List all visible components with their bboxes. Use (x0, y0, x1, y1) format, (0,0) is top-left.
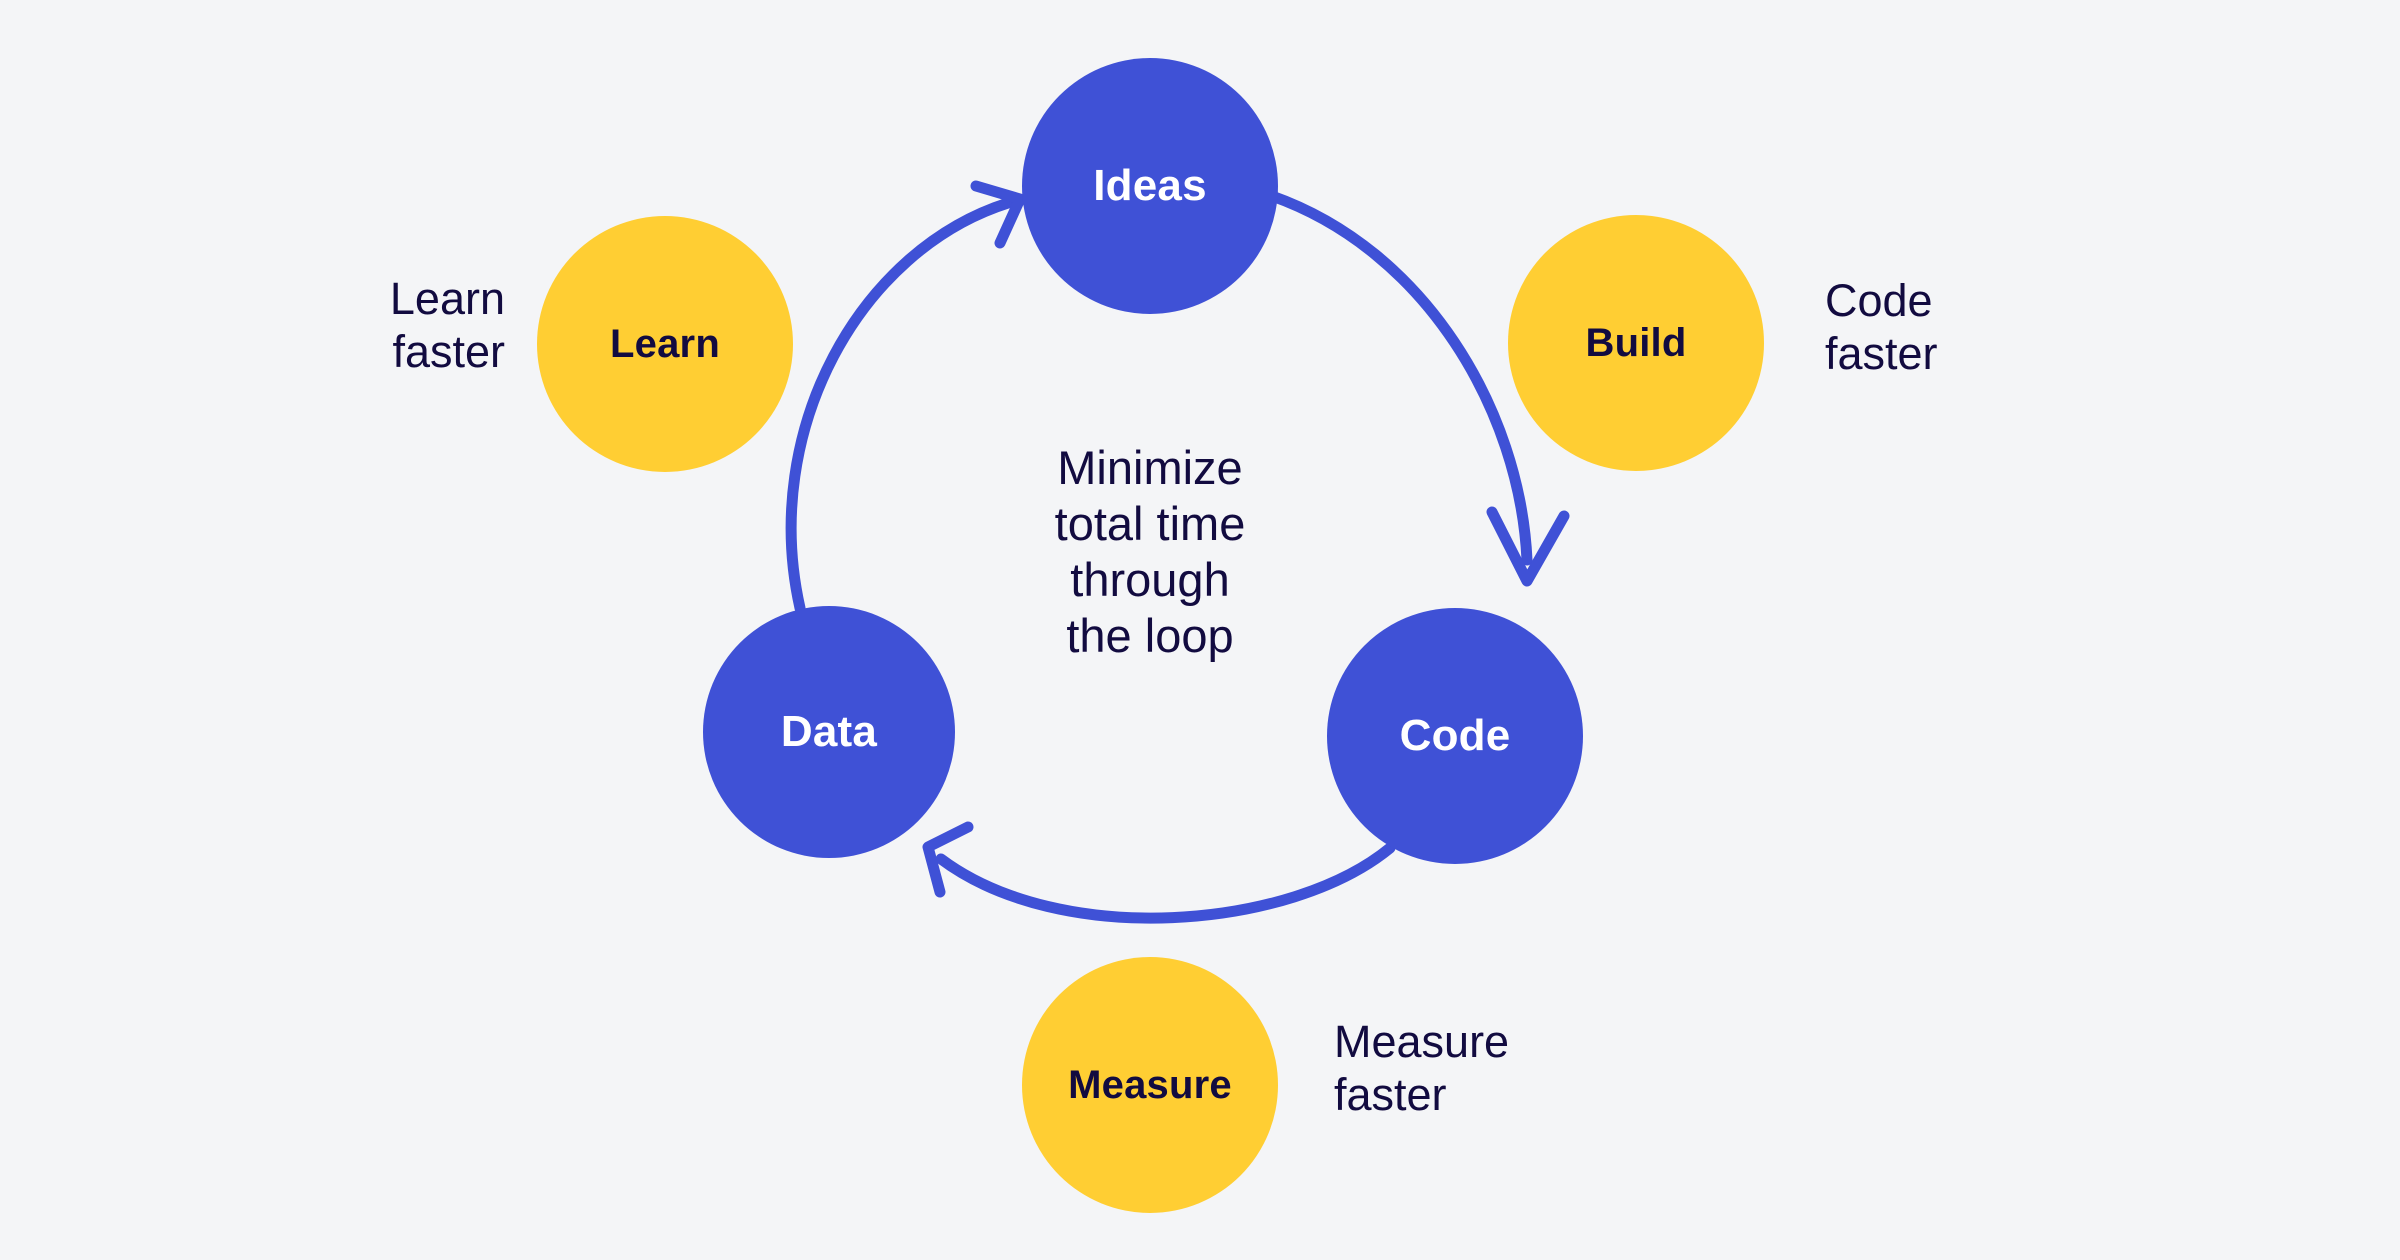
loop-node-ideas-label: Ideas (1093, 161, 1207, 211)
loop-node-data[interactable]: Data (703, 606, 955, 858)
caption-code-faster: Code faster (1825, 274, 2145, 380)
action-node-learn[interactable]: Learn (537, 216, 793, 472)
caption-measure-faster: Measure faster (1334, 1015, 1674, 1121)
action-node-measure-label: Measure (1068, 1063, 1232, 1108)
arrow-code-to-data (928, 827, 1390, 918)
action-node-build[interactable]: Build (1508, 215, 1764, 471)
diagram-canvas: Ideas Code Data Learn Build Measure Lear… (0, 0, 2400, 1260)
loop-node-data-label: Data (781, 707, 877, 757)
center-caption: Minimize total time through the loop (920, 440, 1380, 664)
loop-node-ideas[interactable]: Ideas (1022, 58, 1278, 314)
loop-node-code-label: Code (1400, 711, 1511, 761)
caption-learn-faster: Learn faster (205, 272, 505, 378)
action-node-learn-label: Learn (610, 322, 720, 367)
action-node-measure[interactable]: Measure (1022, 957, 1278, 1213)
action-node-build-label: Build (1586, 321, 1687, 366)
